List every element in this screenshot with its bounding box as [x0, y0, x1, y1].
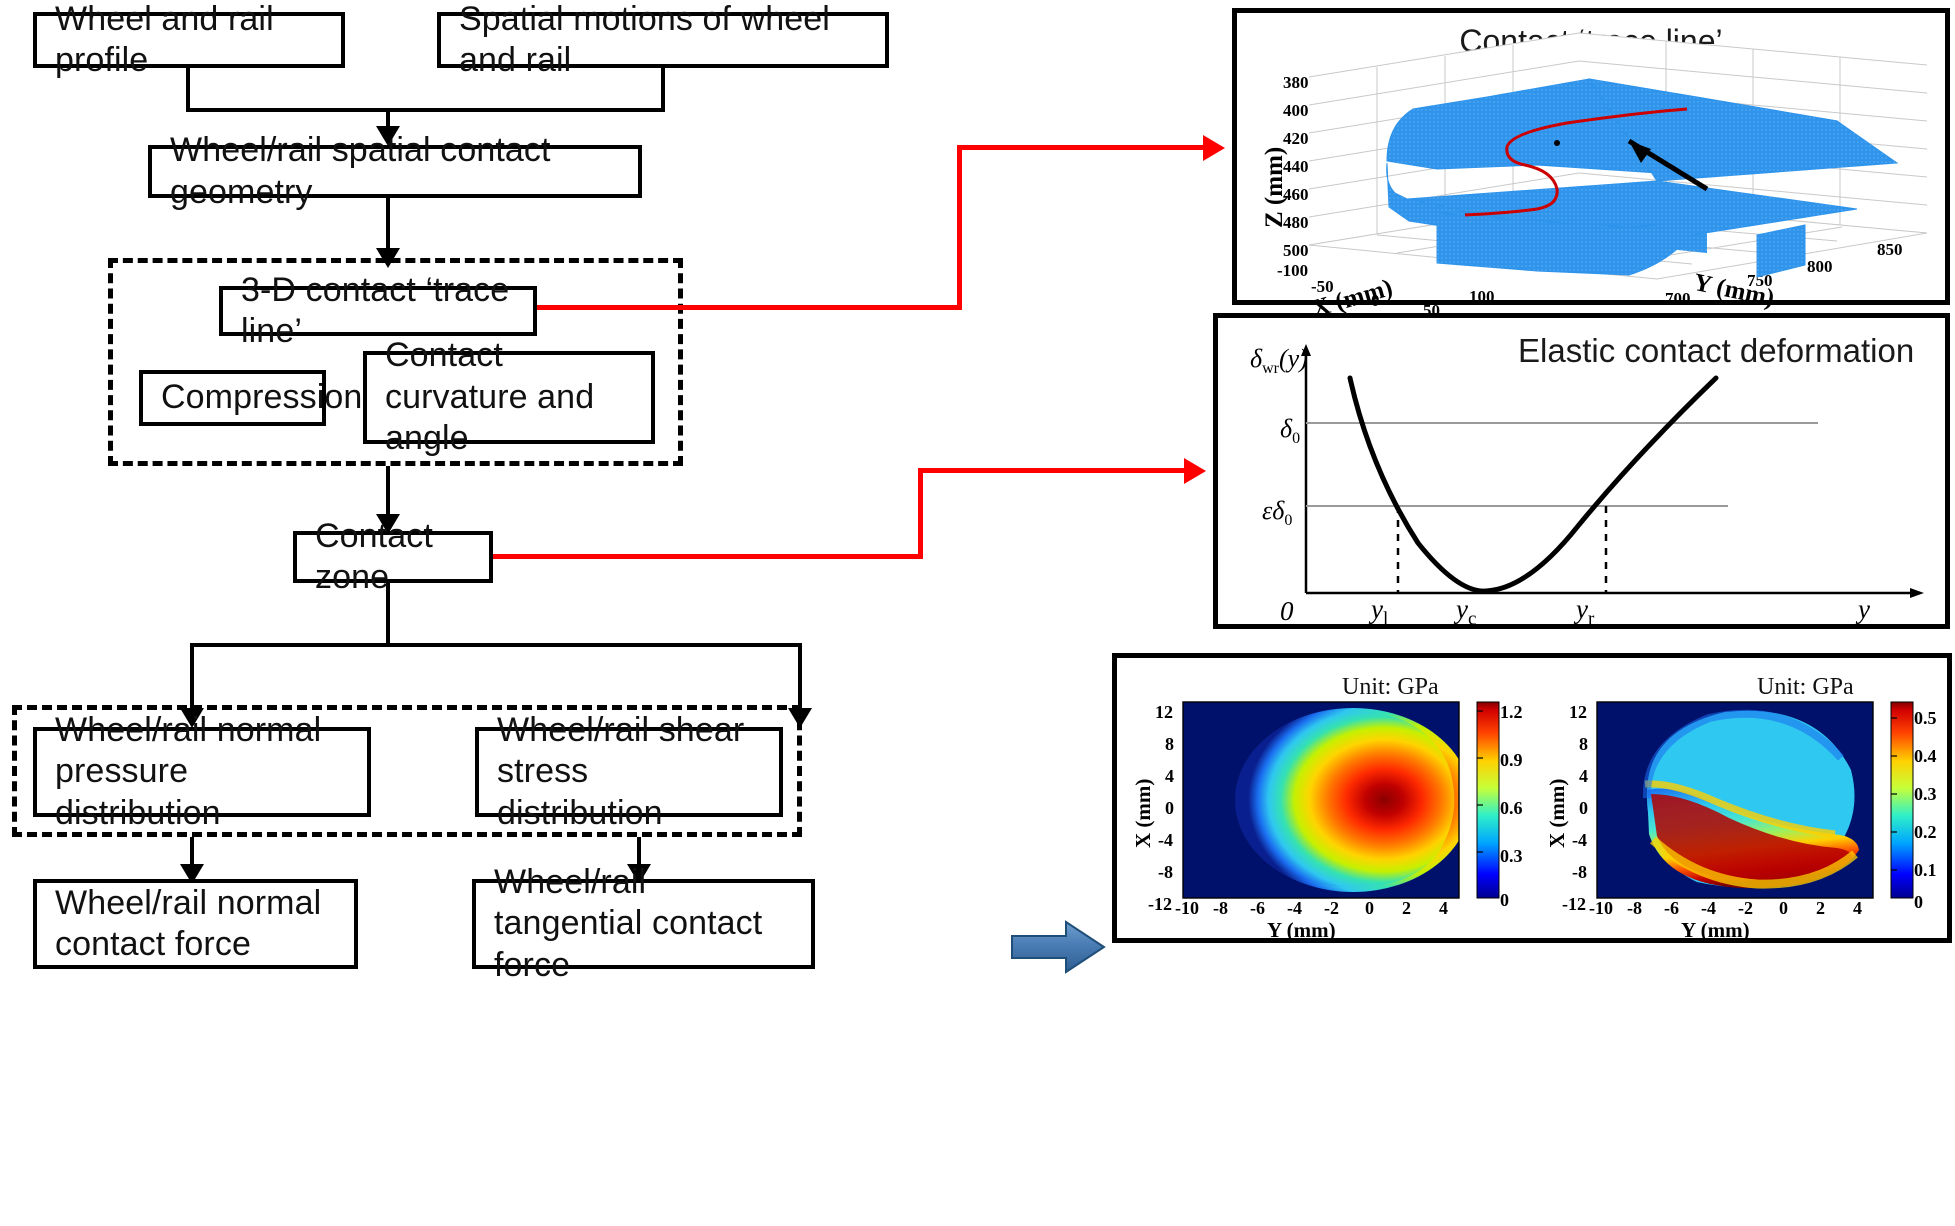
flow-box-label: Contact zone	[315, 516, 471, 599]
flow-box-label: Wheel/rail shear stress distribution	[497, 710, 761, 834]
flow-box-label: Compression	[161, 377, 362, 418]
flow-box-tangential-contact-force[interactable]: Wheel/rail tangential contact force	[472, 879, 815, 969]
connector-line	[190, 643, 802, 647]
flow-box-label: Wheel/rail normal pressure distribution	[55, 710, 349, 834]
flow-box-shear-stress-distribution[interactable]: Wheel/rail shear stress distribution	[475, 727, 783, 817]
red-connector-line	[918, 468, 1188, 473]
connector-line	[386, 583, 390, 646]
elastic-deformation-graphic	[1218, 318, 1955, 634]
red-connector-line	[918, 468, 923, 559]
connector-line	[661, 68, 665, 110]
flow-box-normal-pressure-distribution[interactable]: Wheel/rail normal pressure distribution	[33, 727, 371, 817]
flow-box-label: Wheel/rail tangential contact force	[494, 862, 793, 986]
flow-box-label: Wheel/rail spatial contact geometry	[170, 130, 620, 213]
red-connector-line	[957, 145, 962, 310]
figure-panel-elastic-deformation: Elastic contact deformation δwr(y) δ0 εδ…	[1213, 313, 1950, 629]
flow-box-label: Wheel/rail normal contact force	[55, 883, 336, 966]
figure-panel-trace-line: Contact ‘trace line’ Z (mm) 380 400 420 …	[1232, 8, 1950, 305]
flow-box-normal-contact-force[interactable]: Wheel/rail normal contact force	[33, 879, 358, 969]
red-connector-line	[957, 145, 1207, 150]
flow-box-spatial-contact-geometry[interactable]: Wheel/rail spatial contact geometry	[148, 145, 642, 198]
connector-line	[186, 108, 665, 112]
contour-plots-graphic	[1117, 658, 1955, 948]
flow-box-contact-zone[interactable]: Contact zone	[293, 531, 493, 583]
arrowhead-right-red-icon	[1184, 458, 1206, 484]
flow-box-label: Contact curvature and angle	[385, 335, 633, 459]
flow-box-compression[interactable]: Compression	[139, 370, 326, 426]
red-connector-line	[493, 554, 923, 559]
arrowhead-right-red-icon	[1203, 135, 1225, 161]
connector-line	[186, 68, 190, 110]
trace-line-3d-graphic	[1237, 13, 1955, 310]
figure-panel-contact-stresses: Unit: GPa X (mm) Y (mm) 12 8 4 0 -4 -8 -…	[1112, 653, 1952, 943]
flow-box-wheel-rail-profile[interactable]: Wheel and rail profile	[33, 12, 345, 68]
blue-block-arrow-icon	[1010, 918, 1106, 976]
flow-box-contact-curvature[interactable]: Contact curvature and angle	[363, 351, 655, 444]
flow-box-trace-line-3d[interactable]: 3-D contact ‘trace line’	[219, 286, 537, 336]
red-connector-line	[537, 305, 962, 310]
flow-box-spatial-motions[interactable]: Spatial motions of wheel and rail	[437, 12, 889, 68]
